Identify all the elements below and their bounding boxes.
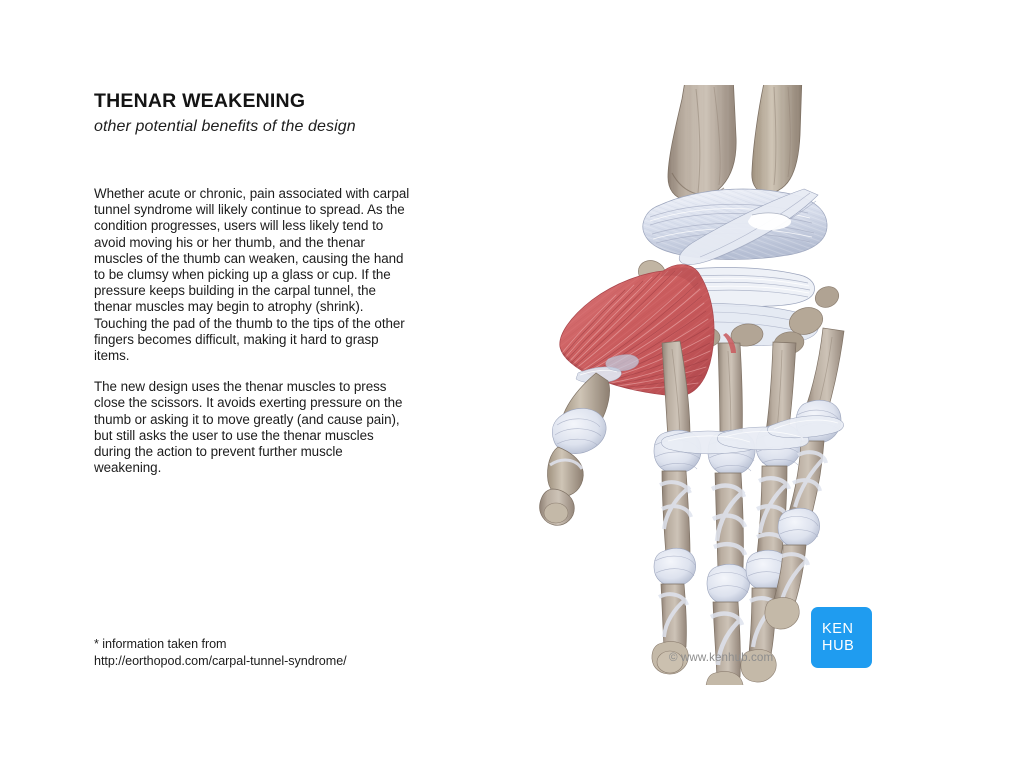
thumb (540, 373, 610, 525)
copyright-credit: © www.kenhub.com (669, 651, 773, 664)
footnote: * information taken from http://eorthopo… (94, 636, 424, 670)
kenhub-logo[interactable]: KEN HUB (811, 607, 872, 668)
middle-finger (706, 343, 755, 685)
footnote-source-url[interactable]: http://eorthopod.com/carpal-tunnel-syndr… (94, 653, 424, 670)
paragraph-2: The new design uses the thenar muscles t… (94, 379, 410, 476)
page-title: THENAR WEAKENING (94, 90, 414, 112)
paragraph-1: Whether acute or chronic, pain associate… (94, 186, 410, 364)
page-subtitle: other potential benefits of the design (94, 117, 414, 136)
logo-line-hub: HUB (822, 638, 854, 655)
slide-canvas: THENAR WEAKENING other potential benefit… (0, 0, 1024, 768)
thenar-muscle-group (556, 265, 714, 397)
hand-anatomy-illustration (500, 85, 900, 685)
body-text-block: Whether acute or chronic, pain associate… (94, 186, 410, 476)
header-block: THENAR WEAKENING other potential benefit… (94, 90, 414, 137)
footnote-line-1: * information taken from (94, 636, 424, 653)
logo-line-ken: KEN (822, 621, 854, 638)
forearm-bones (668, 85, 802, 200)
